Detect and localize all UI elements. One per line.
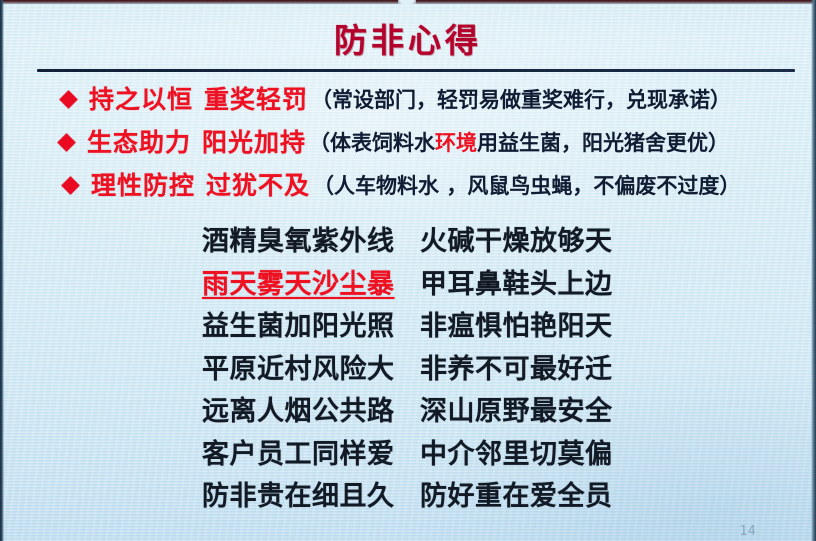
red-diamond-icon bbox=[61, 176, 79, 194]
couplet-row: 平原近村风险大 非养不可最好迁 bbox=[0, 347, 816, 390]
couplet-5-left: 远离人烟公共路 bbox=[202, 389, 408, 428]
bullet-item-3: 理性防控 过犹不及 （人车物料水 ，风鼠鸟虫蝇，不偏废不过度） bbox=[0, 166, 816, 209]
red-diamond-icon bbox=[59, 90, 77, 108]
bullet-1-paren-open: （ bbox=[311, 88, 332, 112]
red-diamond-icon bbox=[57, 133, 75, 151]
bullet-1-head-b: 重奖轻罚 bbox=[204, 80, 308, 116]
couplet-6-left: 客户员工同样爱 bbox=[202, 432, 408, 471]
bullet-3-head-b: 过犹不及 bbox=[206, 166, 310, 202]
bullet-3-note: （人车物料水 ，风鼠鸟虫蝇，不偏废不过度） bbox=[313, 170, 740, 200]
couplet-6-right: 中介邻里切莫偏 bbox=[408, 432, 614, 471]
bullet-2-note: （体表饲料水环境用益生菌，阳光猪舍更优） bbox=[309, 127, 729, 157]
photo-edge-notch bbox=[398, 0, 416, 5]
slide-content: 防非心得 持之以恒 重奖轻罚 （常设部门，轻罚易做重奖难行，兑现承诺） 生态助力… bbox=[0, 0, 816, 541]
bullet-2-note-text-b: 用益生菌，阳光猪舍更优 bbox=[477, 131, 708, 155]
couplet-4-left: 平原近村风险大 bbox=[202, 347, 408, 386]
bullet-2-note-text-a: 体表饲料水 bbox=[330, 131, 435, 155]
couplet-2-right: 甲耳鼻鞋头上边 bbox=[408, 262, 614, 301]
bullet-2-paren-close: ） bbox=[708, 131, 729, 155]
bullet-item-2: 生态助力 阳光加持 （体表饲料水环境用益生菌，阳光猪舍更优） bbox=[0, 123, 816, 166]
bullet-list: 持之以恒 重奖轻罚 （常设部门，轻罚易做重奖难行，兑现承诺） 生态助力 阳光加持… bbox=[0, 80, 816, 209]
bullet-2-paren-open: （ bbox=[309, 131, 330, 155]
couplet-1-right: 火碱干燥放够天 bbox=[408, 219, 614, 258]
couplet-3-right: 非瘟惧怕艳阳天 bbox=[408, 304, 614, 343]
couplet-row: 远离人烟公共路 深山原野最安全 bbox=[0, 389, 816, 432]
title-divider-rule bbox=[37, 69, 795, 72]
couplet-row: 益生菌加阳光照 非瘟惧怕艳阳天 bbox=[0, 304, 816, 347]
couplet-7-right: 防好重在爱全员 bbox=[408, 474, 614, 513]
bullet-1-note: （常设部门，轻罚易做重奖难行，兑现承诺） bbox=[311, 84, 731, 114]
couplet-row: 防非贵在细且久 防好重在爱全员 bbox=[0, 474, 816, 517]
bullet-3-paren-close: ） bbox=[719, 174, 740, 198]
couplet-row: 客户员工同样爱 中介邻里切莫偏 bbox=[0, 432, 816, 475]
bullet-1-head-a: 持之以恒 bbox=[89, 80, 193, 116]
couplet-3-left: 益生菌加阳光照 bbox=[202, 304, 408, 343]
bullet-item-1: 持之以恒 重奖轻罚 （常设部门，轻罚易做重奖难行，兑现承诺） bbox=[0, 80, 816, 123]
photo-edge-right bbox=[811, 0, 816, 541]
slide-title: 防非心得 bbox=[0, 14, 816, 62]
couplet-5-right: 深山原野最安全 bbox=[408, 389, 614, 428]
photo-edge-left bbox=[0, 0, 4, 541]
slide-page-number: 14 bbox=[739, 524, 756, 539]
bullet-3-note-text: 人车物料水 ，风鼠鸟虫蝇，不偏废不过度 bbox=[334, 174, 719, 198]
couplet-list: 酒精臭氧紫外线 火碱干燥放够天 雨天雾天沙尘暴 甲耳鼻鞋头上边 益生菌加阳光照 … bbox=[0, 219, 816, 517]
couplet-4-right: 非养不可最好迁 bbox=[408, 347, 614, 386]
couplet-1-left: 酒精臭氧紫外线 bbox=[202, 219, 408, 258]
bullet-2-head-a: 生态助力 bbox=[87, 123, 191, 159]
presentation-slide: 防非心得 持之以恒 重奖轻罚 （常设部门，轻罚易做重奖难行，兑现承诺） 生态助力… bbox=[0, 0, 816, 541]
bullet-2-note-highlight: 环境 bbox=[435, 131, 477, 155]
couplet-row: 雨天雾天沙尘暴 甲耳鼻鞋头上边 bbox=[0, 262, 816, 305]
bullet-2-head-b: 阳光加持 bbox=[202, 123, 306, 159]
couplet-7-left: 防非贵在细且久 bbox=[202, 474, 408, 513]
bullet-3-paren-open: （ bbox=[313, 174, 334, 198]
bullet-1-note-text: 常设部门，轻罚易做重奖难行，兑现承诺 bbox=[332, 88, 710, 112]
couplet-row: 酒精臭氧紫外线 火碱干燥放够天 bbox=[0, 219, 816, 262]
couplet-2-left: 雨天雾天沙尘暴 bbox=[202, 262, 408, 301]
bullet-1-paren-close: ） bbox=[710, 88, 731, 112]
bullet-3-head-a: 理性防控 bbox=[91, 166, 195, 202]
